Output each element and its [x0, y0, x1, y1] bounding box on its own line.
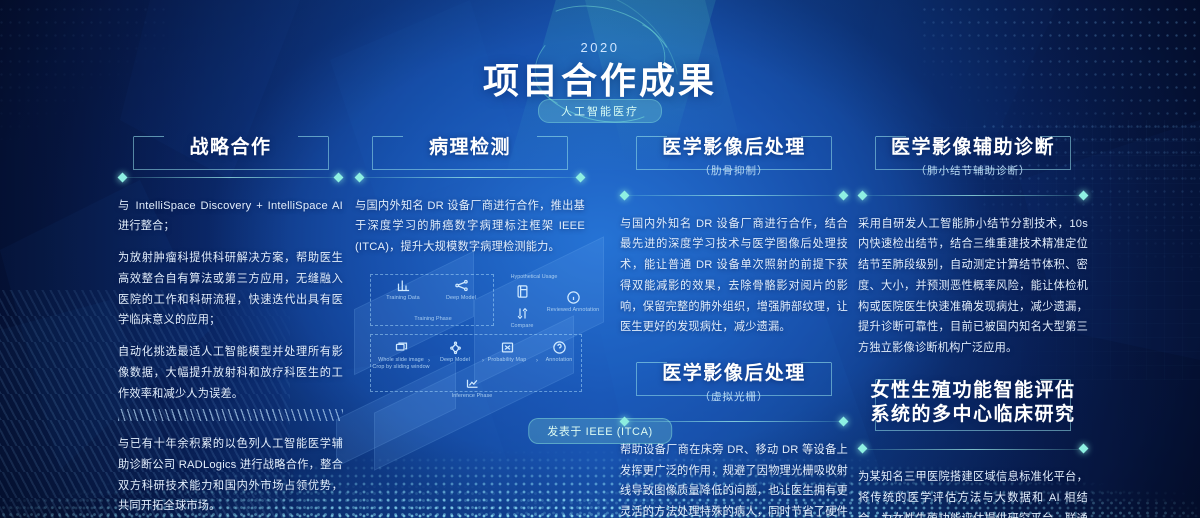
poster-canvas: 2020 项目合作成果 人工智能医疗 战略合作 与 IntelliSpace D…	[0, 0, 1200, 518]
node-training-data: Training Data	[374, 278, 432, 302]
diamond-icon-right	[334, 172, 344, 182]
section-subtitle: （肺小结节辅助诊断）	[858, 163, 1088, 178]
node-compare: Compare	[502, 306, 542, 330]
section-body: 帮助设备厂商在床旁 DR、移动 DR 等设备上发挥更广泛的作用，规避了因物理光栅…	[620, 440, 848, 518]
node-whole-slide-image: Whole slide image Crop by sliding window	[372, 340, 430, 371]
question-circle-icon	[551, 340, 568, 355]
section-divider	[118, 173, 343, 183]
section-title: 医学影像辅助诊断	[883, 136, 1063, 160]
paragraph: 与国内外知名 DR 设备厂商进行合作，推出基于深度学习的肺癌数字病理标注框架 I…	[355, 196, 585, 258]
layers-icon	[393, 340, 410, 355]
section-body: 为某知名三甲医院搭建区域信息标准化平台，将传统的医学评估方法与大数据和 AI 相…	[858, 467, 1088, 518]
section-body-secondary: 与已有十年余积累的以色列人工智能医学辅助诊断公司 RADLogics 进行战略合…	[118, 434, 343, 517]
info-circle-icon	[565, 290, 582, 305]
divider-line	[125, 177, 336, 178]
node-annotation: Annotation	[530, 340, 588, 364]
section-title: 女性生殖功能智能评估系统的多中心临床研究	[858, 379, 1088, 427]
column-image-postprocessing: 医学影像后处理 （肋骨抑制） 与国内外知名 DR 设备厂商进行合作，结合最先进的…	[620, 130, 848, 518]
section-body: 与国内外知名 DR 设备厂商进行合作，推出基于深度学习的肺癌数字病理标注框架 I…	[355, 196, 585, 258]
node-label: Compare	[502, 323, 542, 330]
hatch-separator	[118, 409, 343, 421]
neural-net-icon	[447, 340, 464, 355]
hypothetical-usage-label: Hypothetical Usage	[498, 274, 570, 280]
divider-line	[627, 195, 841, 196]
section-divider	[858, 444, 1088, 454]
node-label: Whole slide image Crop by sliding window	[372, 357, 430, 371]
section-title: 战略合作	[181, 136, 279, 160]
node-label: Reviewed Annotation	[544, 307, 602, 314]
page-title: 项目合作成果	[0, 52, 1200, 104]
section-body: 采用自研发人工智能肺小结节分割技术，10s 内快速检出结节，结合三维重建技术精准…	[858, 214, 1088, 359]
divider-line	[865, 449, 1081, 450]
divider-line	[865, 195, 1081, 196]
paragraph: 自动化挑选最适人工智能模型并处理所有影像数据，大幅提升放射科和放疗科医生的工作效…	[118, 342, 343, 404]
divider-line	[362, 177, 578, 178]
grid-map-icon	[499, 340, 516, 355]
paragraph: 采用自研发人工智能肺小结节分割技术，10s 内快速检出结节，结合三维重建技术精准…	[858, 214, 1088, 359]
compare-arrows-icon	[514, 306, 531, 321]
column-strategic-cooperation: 战略合作 与 IntelliSpace Discovery + IntelliS…	[118, 130, 343, 517]
section-body: 与 IntelliSpace Discovery + IntelliSpace …	[118, 196, 343, 404]
diamond-icon-right	[1079, 444, 1089, 454]
paragraph: 为某知名三甲医院搭建区域信息标准化平台，将传统的医学评估方法与大数据和 AI 相…	[858, 467, 1088, 518]
poster-header: 2020 项目合作成果 人工智能医疗	[0, 0, 1200, 130]
node-compare-upper	[502, 284, 542, 301]
diamond-icon-right	[1079, 190, 1089, 200]
node-deep-model-bottom: Deep Model	[426, 340, 484, 364]
section-title: 病理检测	[421, 136, 519, 160]
node-reviewed-annotation: Reviewed Annotation	[544, 290, 602, 314]
node-label: Probability Map	[478, 357, 536, 364]
node-probability-map: Probability Map	[478, 340, 536, 364]
node-label: Deep Model	[432, 295, 490, 302]
node-inference-phase-icon: Inference Phase	[442, 376, 502, 400]
paragraph: 与 IntelliSpace Discovery + IntelliSpace …	[118, 196, 343, 237]
section-header: 医学影像后处理 （虚拟光栅）	[620, 356, 848, 408]
node-label: Annotation	[530, 357, 588, 364]
section-header: 医学影像辅助诊断 （肺小结节辅助诊断）	[858, 130, 1088, 182]
paragraph: 为放射肿瘤科提供科研解决方案，帮助医生高效整合自有算法或第三方应用，无缝融入医院…	[118, 248, 343, 331]
section-divider	[355, 173, 585, 183]
node-label: Training Data	[374, 295, 432, 302]
node-label: Inference Phase	[442, 393, 502, 400]
column-assisted-diagnosis: 医学影像辅助诊断 （肺小结节辅助诊断） 采用自研发人工智能肺小结节分割技术，10…	[858, 130, 1088, 518]
section-divider	[858, 191, 1088, 201]
section-header: 医学影像后处理 （肋骨抑制）	[620, 130, 848, 182]
column-pathology-detection: 病理检测 与国内外知名 DR 设备厂商进行合作，推出基于深度学习的肺癌数字病理标…	[355, 130, 585, 258]
trend-line-icon	[464, 376, 481, 391]
section-subtitle: （虚拟光栅）	[620, 389, 848, 404]
diamond-icon-right	[839, 416, 849, 426]
paragraph: 与国内外知名 DR 设备厂商进行合作，结合最先进的深度学习技术与医学图像后处理技…	[620, 214, 848, 338]
ieee-badge: 发表于 IEEE (ITCA)	[528, 418, 672, 444]
network-icon	[453, 278, 470, 293]
section-subtitle: （肋骨抑制）	[620, 163, 848, 178]
paragraph: 帮助设备厂商在床旁 DR、移动 DR 等设备上发挥更广泛的作用，规避了因物理光栅…	[620, 440, 848, 518]
pathology-workflow-diagram: Training Data Deep Model Training Phase …	[364, 272, 592, 412]
section-divider	[620, 191, 848, 201]
section-title: 医学影像后处理	[654, 362, 814, 386]
diamond-icon-right	[576, 172, 586, 182]
section-header: 战略合作	[118, 130, 343, 164]
subtitle-badge: 人工智能医疗	[538, 99, 662, 123]
section-body: 与国内外知名 DR 设备厂商进行合作，结合最先进的深度学习技术与医学图像后处理技…	[620, 214, 848, 338]
node-label: Deep Model	[426, 357, 484, 364]
document-icon	[514, 284, 531, 299]
bar-chart-icon	[395, 278, 412, 293]
training-phase-label: Training Phase	[394, 316, 472, 322]
section-header: 女性生殖功能智能评估系统的多中心临床研究	[858, 373, 1088, 431]
diamond-icon-right	[839, 190, 849, 200]
paragraph: 与已有十年余积累的以色列人工智能医学辅助诊断公司 RADLogics 进行战略合…	[118, 434, 343, 517]
section-title: 医学影像后处理	[654, 136, 814, 160]
node-deep-model-top: Deep Model	[432, 278, 490, 302]
section-header: 病理检测	[355, 130, 585, 164]
